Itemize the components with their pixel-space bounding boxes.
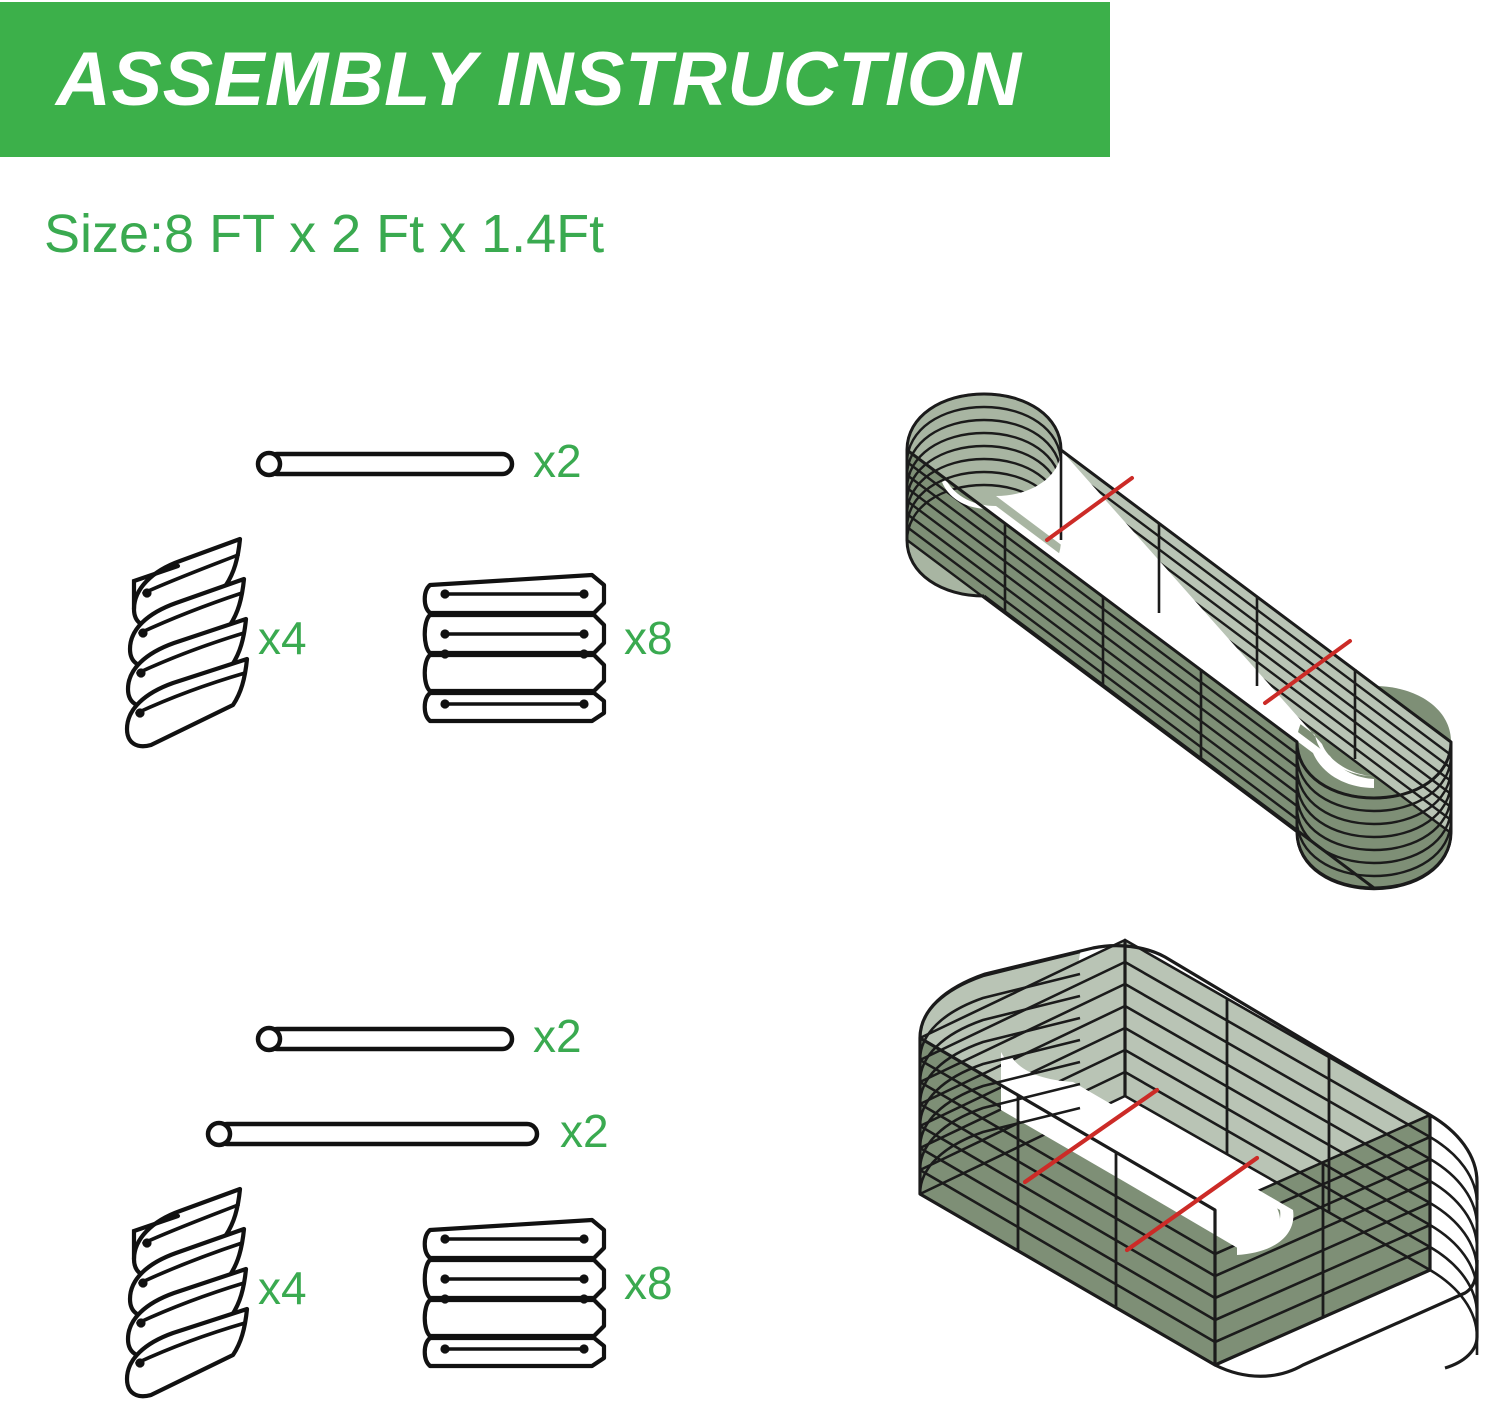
rod-icon — [205, 1113, 545, 1155]
illustration-raised-bed-rounded-rect — [825, 910, 1500, 1389]
rod-icon — [255, 443, 520, 485]
part-straight-panel-bottom: x8 — [424, 1208, 624, 1373]
illustration-raised-bed-oval — [860, 330, 1500, 890]
qty-curved-panel-top: x4 — [258, 611, 307, 665]
part-support-rod-short-bottom: x2 — [255, 1018, 520, 1060]
part-support-rod-short-top: x2 — [255, 443, 520, 485]
qty-curved-panel-bottom: x4 — [258, 1261, 307, 1315]
part-curved-panel-bottom: x4 — [118, 1183, 328, 1408]
header-banner: ASSEMBLY INSTRUCTION — [0, 2, 1110, 157]
qty-straight-panel-top: x8 — [624, 611, 673, 665]
straight-panel-icon — [424, 1208, 624, 1373]
page-title: ASSEMBLY INSTRUCTION — [56, 36, 1022, 123]
size-label: Size:8 FT x 2 Ft x 1.4Ft — [44, 203, 604, 265]
part-support-rod-long-bottom: x2 — [205, 1113, 545, 1155]
part-curved-panel-top: x4 — [118, 533, 328, 758]
qty-support-rod-short-top: x2 — [533, 434, 582, 488]
straight-panel-icon — [424, 563, 624, 728]
qty-support-rod-long-bottom: x2 — [560, 1104, 609, 1158]
qty-support-rod-short-bottom: x2 — [533, 1009, 582, 1063]
raised-bed-rounded-rect-assembled-icon — [825, 910, 1500, 1389]
raised-bed-oval-assembled-icon — [860, 330, 1500, 890]
rod-icon — [255, 1018, 520, 1060]
qty-straight-panel-bottom: x8 — [624, 1256, 673, 1310]
part-straight-panel-top: x8 — [424, 563, 624, 728]
